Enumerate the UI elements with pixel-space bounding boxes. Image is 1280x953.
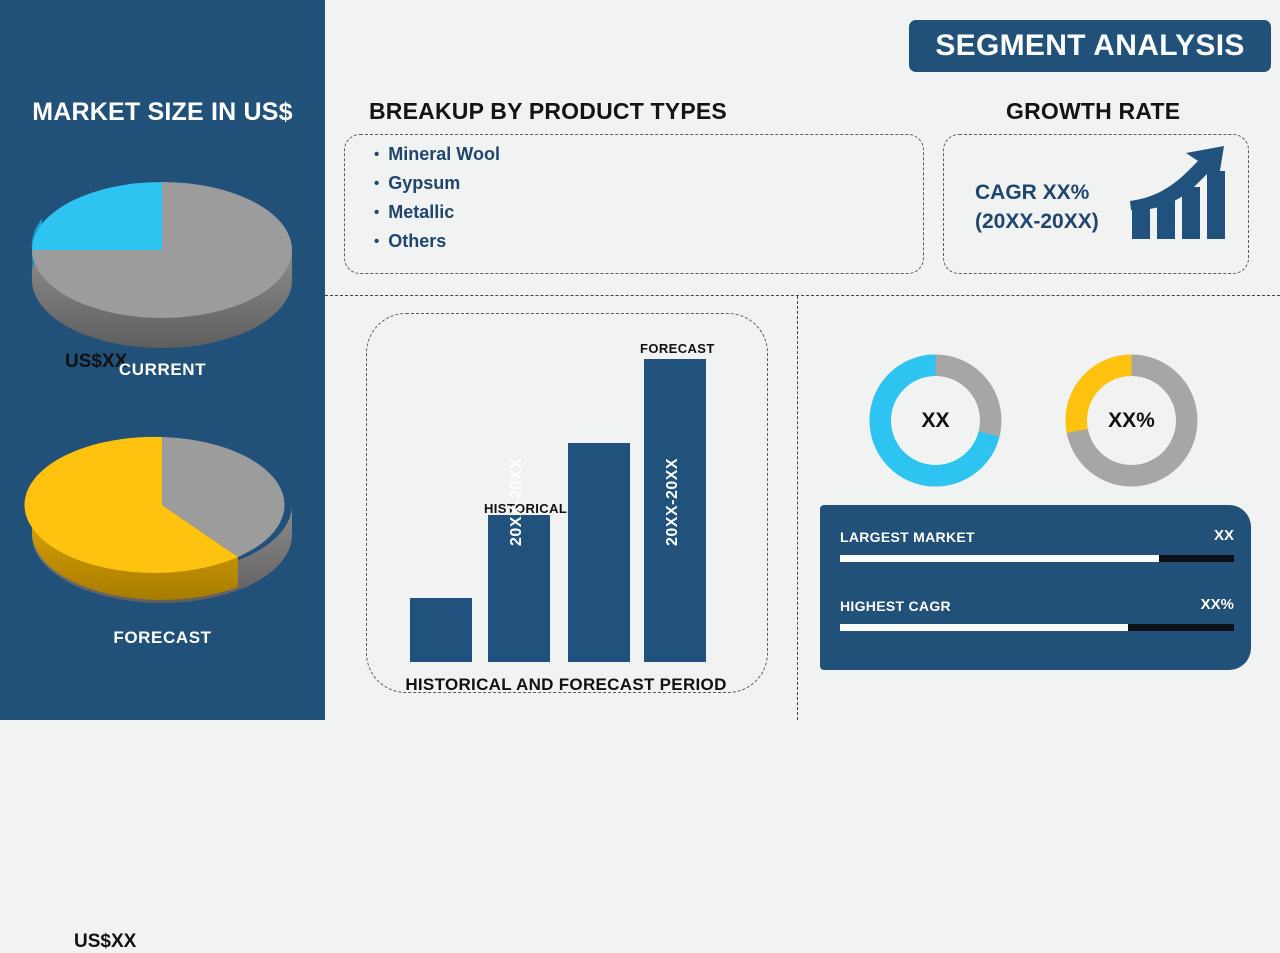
breakup-heading: BREAKUP BY PRODUCT TYPES (369, 98, 727, 125)
highest-cagr-value: XX% (1201, 596, 1234, 613)
growth-arrow-chart-icon (1128, 143, 1230, 248)
highest-cagr-donut-center: XX% (1087, 376, 1176, 465)
forecast-range-label: 20XX-20XX (664, 458, 682, 546)
market-size-title: MARKET SIZE IN US$ (0, 98, 325, 127)
highest-cagr-progress-track (840, 624, 1234, 631)
list-item-label: Mineral Wool (388, 144, 500, 165)
infographic-page: MARKET SIZE IN US$ (0, 0, 1280, 720)
market-size-panel: MARKET SIZE IN US$ (0, 0, 325, 720)
bar-3 (568, 443, 630, 662)
bar-chart-caption: HISTORICAL AND FORECAST PERIOD (366, 675, 766, 695)
page-title-box: SEGMENT ANALYSIS (909, 20, 1271, 72)
largest-market-label: LARGEST MARKET (840, 529, 975, 545)
cagr-line-1: CAGR XX% (975, 178, 1099, 207)
stat-row: HIGHEST CAGR XX% (840, 598, 1234, 631)
forecast-pie-chart: US$XX (0, 425, 325, 625)
current-pie-chart: US$XX (0, 155, 325, 355)
largest-market-value: XX (1214, 527, 1234, 544)
highest-cagr-head: HIGHEST CAGR XX% (840, 598, 1234, 620)
forecast-pie-value-label: US$XX (74, 931, 136, 953)
key-indicators-panel: LARGEST MARKET XX HIGHEST CAGR XX% (820, 505, 1251, 670)
list-item-label: Metallic (388, 202, 454, 223)
list-item-label: Others (388, 231, 446, 252)
list-item-label: Gypsum (388, 173, 460, 194)
current-pie-caption: CURRENT (0, 360, 325, 380)
cagr-text: CAGR XX% (20XX-20XX) (975, 178, 1099, 236)
list-item: • Metallic (374, 198, 500, 227)
largest-market-progress-track (840, 555, 1234, 562)
bar-1 (410, 598, 472, 662)
highest-cagr-donut-value: XX% (1108, 409, 1155, 433)
cagr-line-2: (20XX-20XX) (975, 207, 1099, 236)
largest-market-donut: XX (869, 354, 1002, 487)
current-pie-svg (0, 155, 325, 355)
bullet-icon: • (374, 176, 379, 191)
highest-cagr-donut: XX% (1065, 354, 1198, 487)
bullet-icon: • (374, 147, 379, 162)
highest-cagr-label: HIGHEST CAGR (840, 598, 951, 614)
bullet-icon: • (374, 205, 379, 220)
historical-range-label: 20XX-20XX (508, 458, 526, 546)
largest-market-donut-center: XX (891, 376, 980, 465)
bullet-icon: • (374, 234, 379, 249)
stat-row: LARGEST MARKET XX (840, 529, 1234, 562)
horizontal-divider (325, 295, 1280, 296)
largest-market-head: LARGEST MARKET XX (840, 529, 1234, 551)
growth-rate-heading: GROWTH RATE (1006, 98, 1180, 125)
vertical-divider (797, 296, 798, 720)
largest-market-donut-value: XX (921, 409, 949, 433)
list-item: • Mineral Wool (374, 140, 500, 169)
list-item: • Others (374, 227, 500, 256)
forecast-pie-caption: FORECAST (0, 628, 325, 648)
page-title: SEGMENT ANALYSIS (935, 29, 1244, 63)
list-item: • Gypsum (374, 169, 500, 198)
forecast-label: FORECAST (640, 341, 715, 356)
largest-market-progress-fill (840, 555, 1159, 562)
header-band: SEGMENT ANALYSIS imarc IMPACTFUL INSIGHT… (325, 0, 1280, 92)
breakup-list: • Mineral Wool • Gypsum • Metallic • Oth… (374, 140, 500, 256)
historical-forecast-bar-chart: HISTORICAL 20XX-20XX FORECAST 20XX-20XX (366, 313, 766, 691)
highest-cagr-progress-fill (840, 624, 1128, 631)
forecast-pie-svg (0, 425, 325, 625)
